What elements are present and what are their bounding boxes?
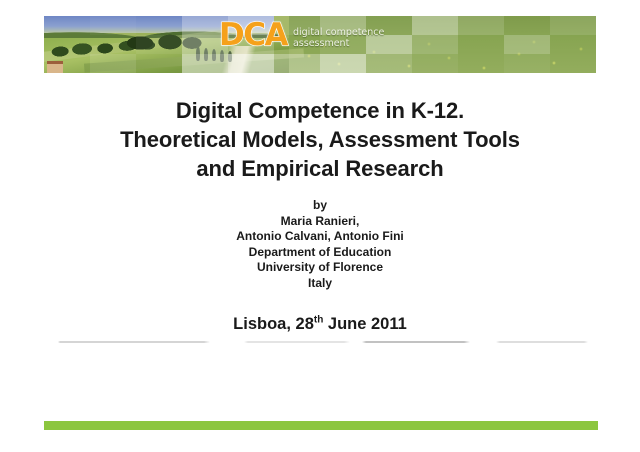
dca-logo-text: DCA: [219, 20, 287, 51]
by-label: by: [44, 198, 596, 214]
event-date-line: Lisboa, 28th June 2011: [44, 313, 596, 335]
affiliation-country: Italy: [44, 276, 596, 292]
author-name: Antonio Calvani, Antonio Fini: [44, 229, 596, 245]
footer-green-bar: [44, 421, 598, 430]
event-place-day: Lisboa, 28: [233, 315, 314, 333]
affiliation-department: Department of Education: [44, 245, 596, 261]
tagline-line-2: assessment: [293, 38, 384, 49]
title-line-1: Digital Competence in K-12.: [44, 96, 596, 125]
presentation-slide: DCA digital competence assessment Digita…: [0, 0, 640, 452]
ordinal-suffix: th: [314, 315, 323, 326]
dca-logo-tagline: digital competence assessment: [293, 23, 384, 49]
author-name: Maria Ranieri,: [44, 214, 596, 230]
page-title: Digital Competence in K-12. Theoretical …: [44, 96, 596, 183]
affiliation-university: University of Florence: [44, 260, 596, 276]
title-line-2: Theoretical Models, Assessment Tools: [44, 125, 596, 154]
dca-header-banner: DCA digital competence assessment: [44, 16, 596, 73]
divider-rule: [44, 341, 596, 343]
title-line-3: and Empirical Research: [44, 154, 596, 183]
dca-logo: DCA digital competence assessment: [219, 20, 384, 51]
author-block: by Maria Ranieri, Antonio Calvani, Anton…: [44, 198, 596, 291]
event-month-year: June 2011: [323, 315, 406, 333]
tagline-line-1: digital competence: [293, 27, 384, 38]
